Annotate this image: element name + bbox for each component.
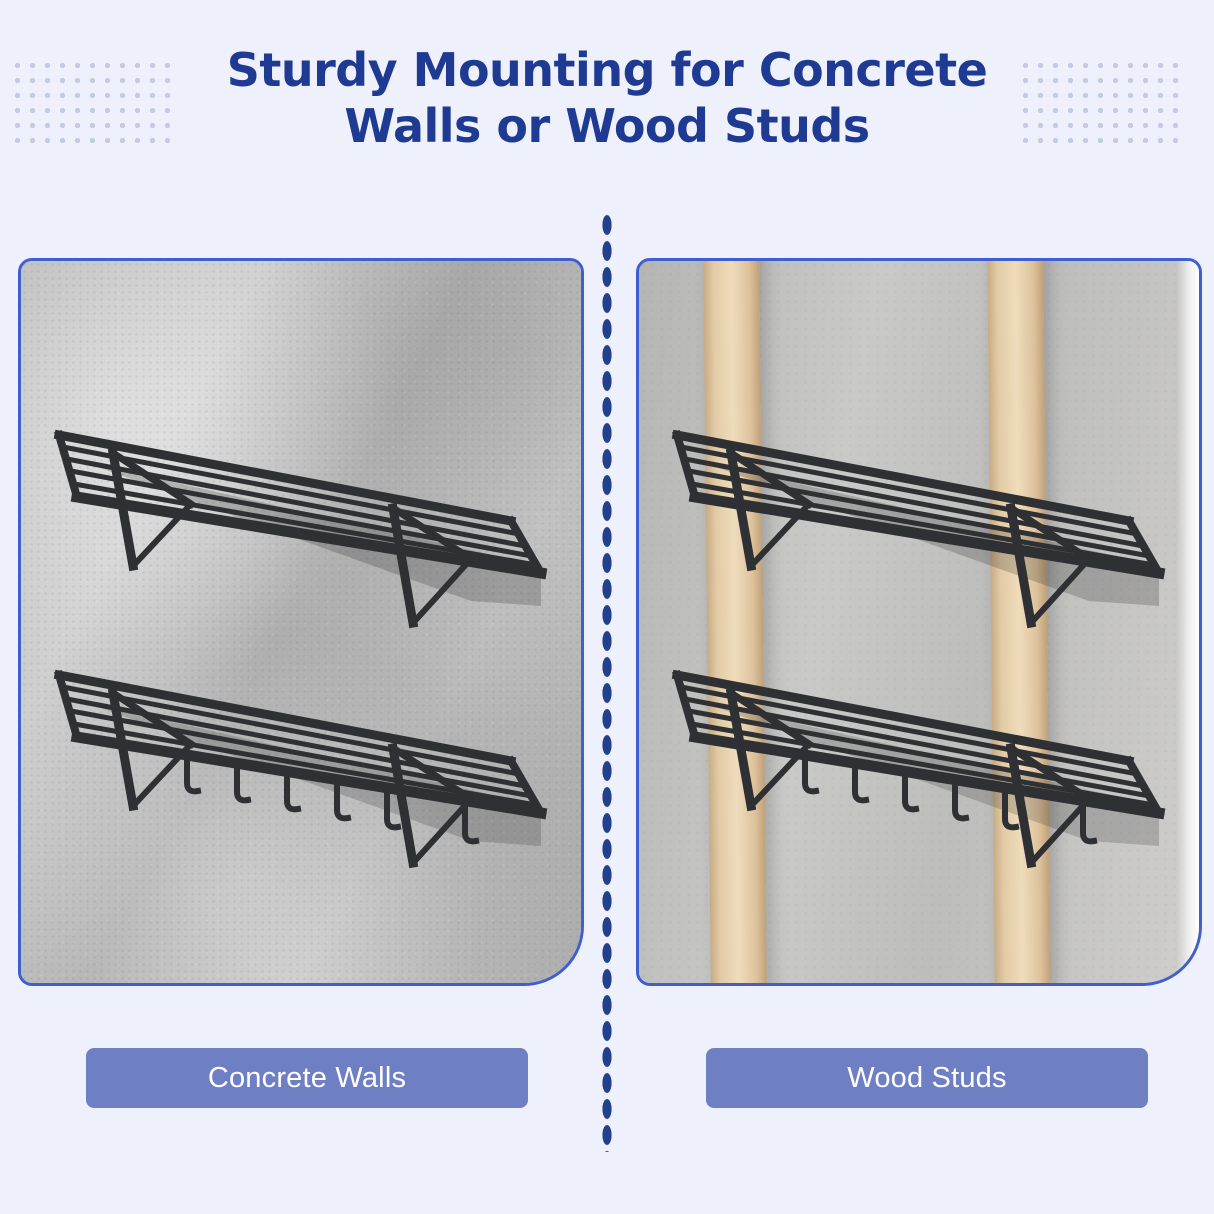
page-title-line-1: Sturdy Mounting for Concrete (200, 42, 1014, 98)
page-title-line-2: Walls or Wood Studs (200, 98, 1014, 154)
header: Sturdy Mounting for Concrete Walls or Wo… (0, 0, 1214, 200)
caption-concrete-walls: Concrete Walls (86, 1048, 528, 1108)
dot-grid-left-decoration (10, 58, 180, 150)
dotted-vertical-divider (601, 212, 613, 1152)
caption-wood-studs: Wood Studs (706, 1048, 1148, 1108)
panel-concrete-walls (18, 258, 584, 986)
page-title: Sturdy Mounting for Concrete Walls or Wo… (200, 42, 1014, 154)
slatted-shelf-with-hooks-lower-right (659, 631, 1199, 951)
panel-wood-studs (636, 258, 1202, 986)
slatted-shelf-with-hooks-lower-left (41, 631, 581, 951)
panel-concrete-image (21, 261, 581, 983)
panel-wood-studs-image (639, 261, 1199, 983)
dot-grid-right-decoration (1018, 58, 1188, 150)
